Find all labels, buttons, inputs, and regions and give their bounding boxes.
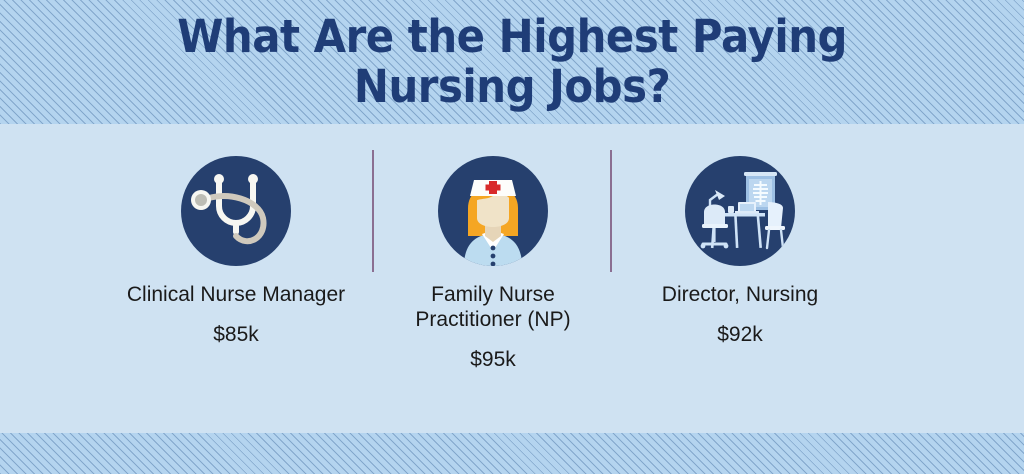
office-desk-icon <box>685 156 795 266</box>
job-title-label: Clinical Nurse Manager <box>96 282 376 307</box>
nurse-avatar-icon <box>438 156 548 266</box>
bottom-striped-band <box>0 433 1024 474</box>
job-title-label: Director, Nursing <box>625 282 855 307</box>
top-striped-band <box>0 0 1024 124</box>
job-salary-value: $92k <box>625 323 855 347</box>
job-salary-value: $85k <box>96 323 376 347</box>
job-salary-value: $95k <box>388 348 598 372</box>
job-title-line-2: Practitioner (NP) <box>388 307 598 332</box>
infographic-root: What Are the Highest Paying Nursing Jobs… <box>0 0 1024 474</box>
brand-logo-crescent <box>906 350 1024 460</box>
job-card-clinical-nurse-manager: Clinical Nurse Manager $85k <box>96 140 376 347</box>
job-card-director-nursing: Director, Nursing $92k <box>625 140 855 347</box>
job-title-line-1: Clinical Nurse Manager <box>96 282 376 307</box>
job-title-line-1: Family Nurse <box>388 282 598 307</box>
job-title-label: Family Nurse Practitioner (NP) <box>388 282 598 332</box>
job-cards-row: Clinical Nurse Manager $85k <box>0 140 1024 370</box>
job-title-line-1: Director, Nursing <box>625 282 855 307</box>
job-card-family-nurse-practitioner: Family Nurse Practitioner (NP) $95k <box>388 140 598 372</box>
stethoscope-icon <box>181 156 291 266</box>
